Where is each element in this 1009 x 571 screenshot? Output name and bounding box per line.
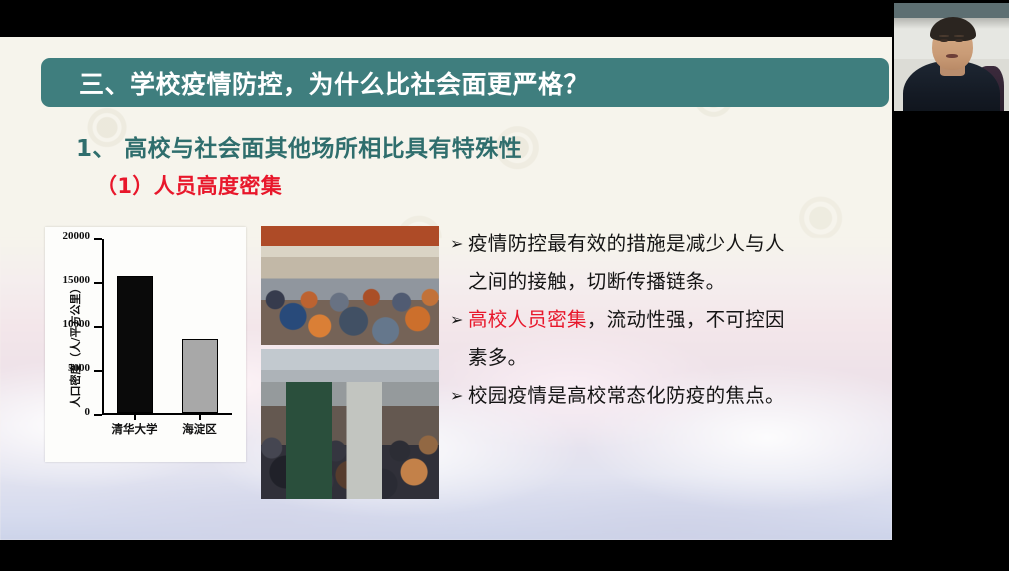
bullet-arrow-icon: ➢ [450,377,468,415]
slide-header-bar: 三、学校疫情防控，为什么比社会面更严格？ [41,58,889,107]
webcam-person-brow-right [954,35,963,37]
chart-y-tick: 20000 [94,238,102,240]
chart-y-axis-line [102,239,104,415]
chart-y-tick-label: 15000 [63,274,91,286]
bullet-text: 疫情防控最有效的措施是减少人与人 [468,225,870,263]
chart-x-category-label: 海淀区 [160,421,240,437]
chart-y-tick: 10000 [94,326,102,328]
letterbox-right [892,111,1009,540]
bullet-plain-text: 校园疫情是高校常态化防疫的焦点。 [468,384,785,407]
crowded-cafeteria-photo [261,226,439,345]
bullet-text: 高校人员密集，流动性强，不可控因 [468,301,870,339]
bullet-text: 之间的接触，切断传播链条。 [468,263,870,301]
slide-header-title: 三、学校疫情防控，为什么比社会面更严格？ [79,65,589,101]
bullet-item: 素多。 [450,339,870,377]
bullet-highlight-text: 高校人员密集 [468,308,587,331]
letterbox-top [0,0,892,37]
crowded-lecture-hall-photo [261,349,439,499]
bullet-item: ➢疫情防控最有效的措施是减少人与人 [450,225,870,263]
chart-y-tick: 5000 [94,370,102,372]
chart-x-tick [199,415,201,420]
chart-bar [117,276,153,413]
chart-plot-area: 05000100001500020000 [102,239,232,415]
bullet-plain-text: 疫情防控最有效的措施是减少人与人 [468,232,785,255]
chart-bar [182,339,218,413]
population-density-chart: 人口密度（人/平方公里） 05000100001500020000 清华大学海淀… [45,227,246,462]
chart-y-tick-label: 0 [85,406,91,418]
letterbox-bottom [0,540,1009,571]
presenter-webcam-feed[interactable] [894,3,1009,111]
webcam-person-eye-right [955,39,963,42]
chart-y-tick-label: 10000 [63,318,91,330]
bullet-item: 之间的接触，切断传播链条。 [450,263,870,301]
slide-canvas: 三、学校疫情防控，为什么比社会面更严格？ 1、 高校与社会面其他场所相比具有特殊… [0,37,892,540]
bullet-list: ➢疫情防控最有效的措施是减少人与人之间的接触，切断传播链条。➢高校人员密集，流动… [450,225,870,415]
webcam-person-eye-left [940,39,948,42]
bullet-text: 素多。 [468,339,870,377]
presentation-screen: 三、学校疫情防控，为什么比社会面更严格？ 1、 高校与社会面其他场所相比具有特殊… [0,0,1009,571]
bullet-plain-text: 之间的接触，切断传播链条。 [468,270,725,293]
bullet-plain-text: 素多。 [468,346,527,369]
webcam-person-mouth [946,54,959,58]
chart-x-tick [134,415,136,420]
slide-heading-level2: （1）人员高度密集 [96,170,282,200]
bullet-arrow-icon: ➢ [450,225,468,263]
bullet-plain-text: ，流动性强，不可控因 [587,308,785,331]
chart-y-tick: 0 [94,414,102,416]
bullet-item: ➢校园疫情是高校常态化防疫的焦点。 [450,377,870,415]
slide-heading-level1: 1、 高校与社会面其他场所相比具有特殊性 [76,129,522,163]
chart-x-axis-line [102,413,232,415]
bullet-text: 校园疫情是高校常态化防疫的焦点。 [468,377,870,415]
chart-y-tick-label: 20000 [63,230,91,242]
chart-y-tick: 15000 [94,282,102,284]
bullet-arrow-icon: ➢ [450,301,468,339]
chart-inner: 人口密度（人/平方公里） 05000100001500020000 清华大学海淀… [45,227,246,462]
bullet-item: ➢高校人员密集，流动性强，不可控因 [450,301,870,339]
chart-y-tick-label: 5000 [68,362,90,374]
webcam-person-brow-left [939,35,948,37]
